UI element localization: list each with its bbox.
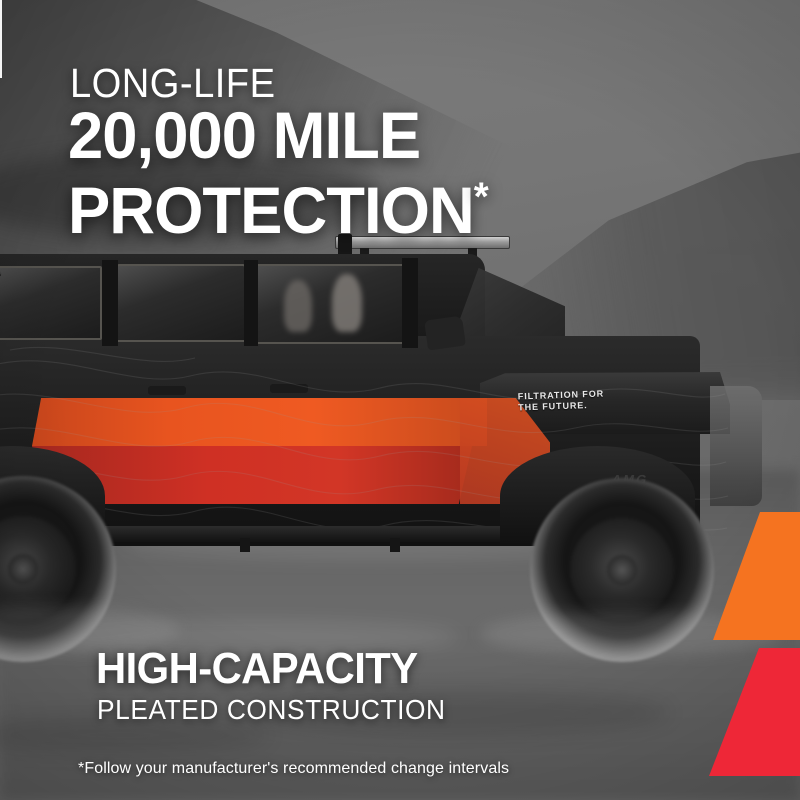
headline-line-2: PROTECTION* xyxy=(68,166,489,241)
headline-asterisk: * xyxy=(474,175,489,219)
accent-shape-red xyxy=(690,636,800,786)
footnote-text: *Follow your manufacturer's recommended … xyxy=(78,760,509,778)
accent-shape-orange xyxy=(690,500,800,650)
subhead-secondary: PLEATED CONSTRUCTION xyxy=(97,694,446,726)
subhead-main: HIGH-CAPACITY xyxy=(96,644,418,694)
subhead-divider xyxy=(0,0,2,78)
headline-line-1: 20,000 MILE xyxy=(68,104,420,166)
promo-banner: K&N® AMG FILTRATION FOR THE FUTURE. xyxy=(0,0,800,800)
headline-line-2-text: PROTECTION xyxy=(68,173,474,247)
